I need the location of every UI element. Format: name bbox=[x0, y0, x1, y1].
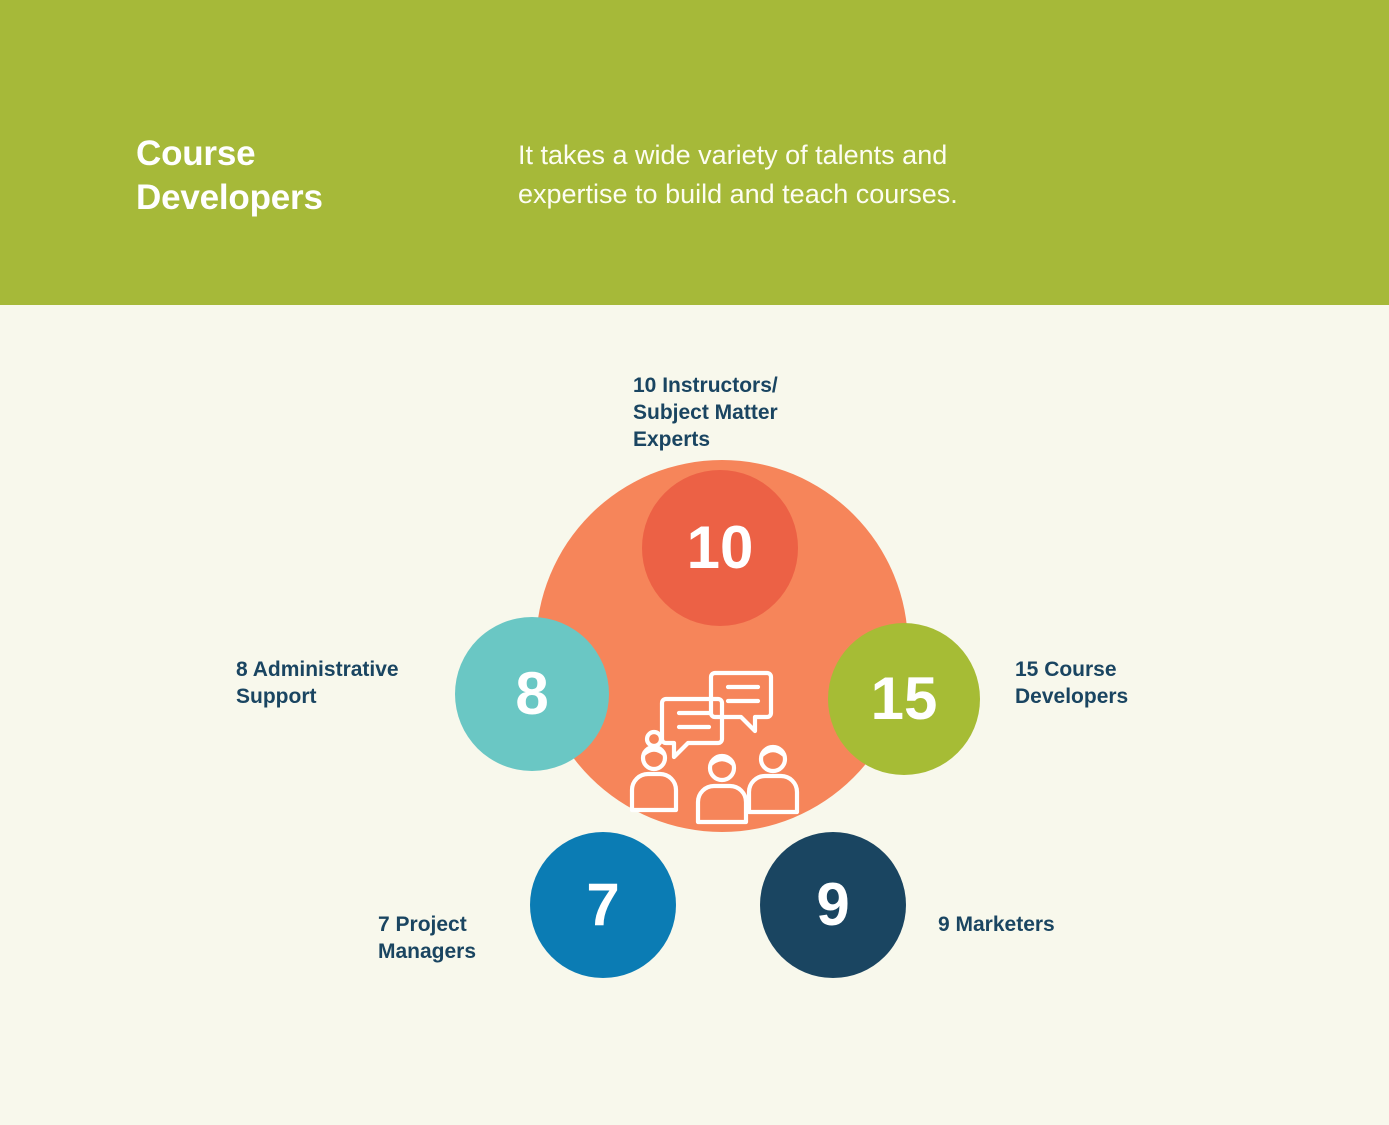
label-course-developers-line-1: 15 Course bbox=[1015, 657, 1235, 684]
page-title-line-2: Developers bbox=[136, 176, 466, 220]
label-admin-support-line-2: Support bbox=[236, 684, 446, 711]
node-marketers[interactable]: 9 bbox=[760, 832, 906, 978]
label-marketers: 9 Marketers bbox=[938, 912, 1138, 939]
label-admin-support-line-1: 8 Administrative bbox=[236, 657, 446, 684]
page-title-line-1: Course bbox=[136, 132, 466, 176]
node-instructors-value: 10 bbox=[687, 518, 754, 578]
node-instructors[interactable]: 10 bbox=[642, 470, 798, 626]
label-instructors-line-3: Experts bbox=[633, 427, 863, 454]
course-developers-diagram: 10 8 15 7 9 10 Instructors/ Subject Matt… bbox=[0, 305, 1389, 1125]
node-course-developers[interactable]: 15 bbox=[828, 623, 980, 775]
node-project-managers[interactable]: 7 bbox=[530, 832, 676, 978]
label-marketers-line-1: 9 Marketers bbox=[938, 912, 1138, 939]
label-instructors-line-2: Subject Matter bbox=[633, 400, 863, 427]
node-admin-support-value: 8 bbox=[515, 664, 548, 724]
page-subtitle-line-2: expertise to build and teach courses. bbox=[518, 175, 1118, 214]
label-instructors-line-1: 10 Instructors/ bbox=[633, 373, 863, 400]
node-marketers-value: 9 bbox=[816, 875, 849, 935]
label-project-managers: 7 Project Managers bbox=[378, 912, 538, 966]
label-course-developers-line-2: Developers bbox=[1015, 684, 1235, 711]
page-subtitle: It takes a wide variety of talents and e… bbox=[518, 136, 1118, 214]
people-conversation-icon bbox=[622, 658, 822, 838]
node-course-developers-value: 15 bbox=[871, 669, 938, 729]
page-title: Course Developers bbox=[136, 132, 466, 220]
label-instructors: 10 Instructors/ Subject Matter Experts bbox=[633, 373, 863, 454]
node-project-managers-value: 7 bbox=[586, 875, 619, 935]
header-band: Course Developers It takes a wide variet… bbox=[0, 0, 1389, 305]
label-project-managers-line-2: Managers bbox=[378, 939, 538, 966]
page-subtitle-line-1: It takes a wide variety of talents and bbox=[518, 136, 1118, 175]
label-admin-support: 8 Administrative Support bbox=[236, 657, 446, 711]
node-admin-support[interactable]: 8 bbox=[455, 617, 609, 771]
label-project-managers-line-1: 7 Project bbox=[378, 912, 538, 939]
label-course-developers: 15 Course Developers bbox=[1015, 657, 1235, 711]
